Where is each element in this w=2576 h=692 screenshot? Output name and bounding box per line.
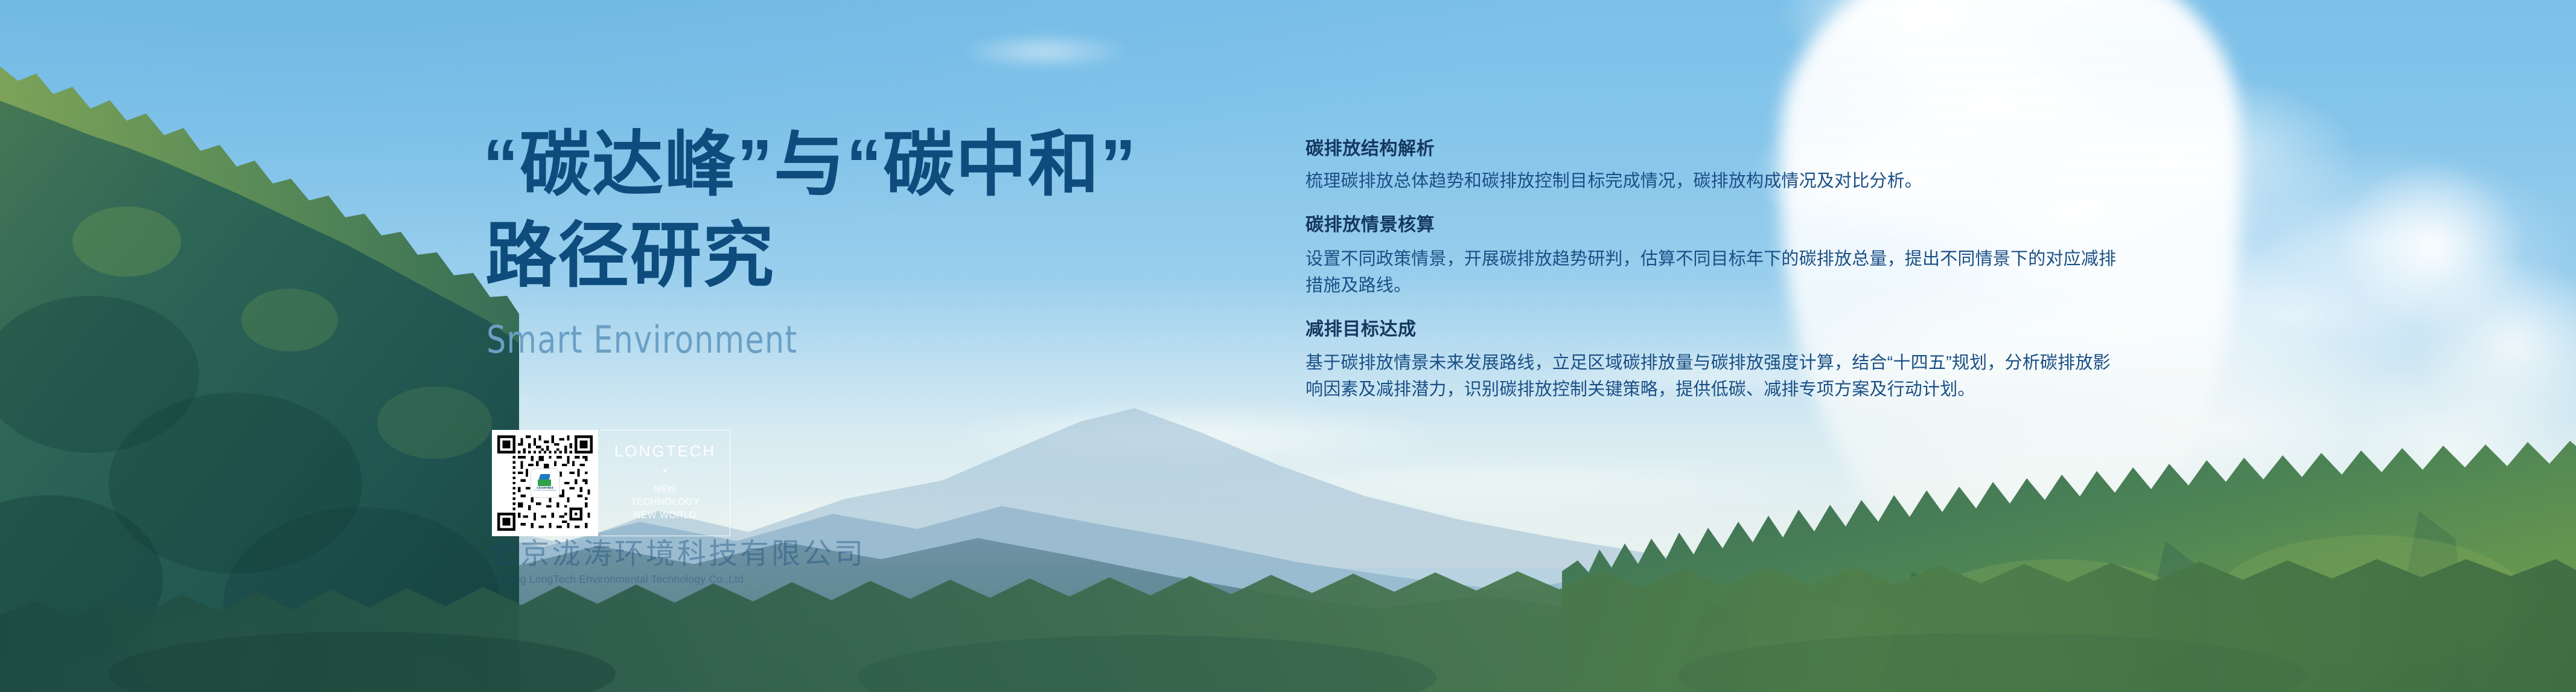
info-section-3-body: 基于碳排放情景未来发展路线，立足区域碳排放量与碳排放强度计算，结合“十四五”规划… — [1306, 350, 2117, 403]
longtech-tagline-line-1: NEW — [631, 483, 700, 496]
info-section-1-body: 梳理碳排放总体趋势和碳排放控制目标完成情况，碳排放构成情况及对比分析。 — [1306, 168, 2117, 194]
qr-center-logo: 北京泷涛环境科技 LONGTECH ENVIRONMENTAL — [531, 469, 559, 497]
hero-title-line-2: 路径研究 — [485, 211, 1237, 302]
info-section-2-body: 设置不同政策情景，开展碳排放趋势研判，估算不同目标年下的碳排放总量，提出不同情景… — [1306, 246, 2117, 299]
info-section-1: 碳排放结构解析 梳理碳排放总体趋势和碳排放控制目标完成情况，碳排放构成情况及对比… — [1306, 138, 2150, 194]
info-section-2: 碳排放情景核算 设置不同政策情景，开展碳排放趋势研判，估算不同目标年下的碳排放总… — [1306, 214, 2150, 299]
info-section-1-heading: 碳排放结构解析 — [1306, 138, 2150, 161]
promo-panel: 北京泷涛环境科技 LONGTECH ENVIRONMENTAL LONGTECH… — [492, 430, 730, 537]
longtech-brand: LONGTECH — [614, 443, 716, 459]
hero-banner: “碳达峰”与“碳中和” 路径研究 Smart Environment — [0, 0, 2576, 692]
hero-subtitle: Smart Environment — [486, 318, 1102, 362]
hero-title-line-1: “碳达峰”与“碳中和” — [483, 120, 1237, 211]
qr-code-card[interactable]: 北京泷涛环境科技 LONGTECH ENVIRONMENTAL — [492, 430, 598, 536]
hero-title-block: “碳达峰”与“碳中和” 路径研究 Smart Environment — [483, 120, 1237, 362]
qr-code-icon[interactable]: 北京泷涛环境科技 LONGTECH ENVIRONMENTAL — [497, 435, 593, 531]
logo-body-shape — [538, 479, 551, 486]
logo-text-en: LONGTECH ENVIRONMENTAL — [534, 490, 557, 492]
logo-cap-shape — [539, 474, 551, 479]
longtech-separator-icon: × — [662, 466, 668, 477]
company-logo-mark — [538, 474, 552, 486]
info-section-3-heading: 减排目标达成 — [1306, 318, 2150, 341]
longtech-panel: LONGTECH × NEW TECHNOLOGY NEW WORLD — [601, 430, 730, 536]
info-section-2-heading: 碳排放情景核算 — [1306, 214, 2150, 237]
longtech-tagline: NEW TECHNOLOGY NEW WORLD — [631, 483, 700, 522]
info-sections: 碳排放结构解析 梳理碳排放总体趋势和碳排放控制目标完成情况，碳排放构成情况及对比… — [1306, 138, 2150, 403]
info-section-3: 减排目标达成 基于碳排放情景未来发展路线，立足区域碳排放量与碳排放强度计算，结合… — [1306, 318, 2150, 403]
longtech-tagline-line-2: TECHNOLOGY — [631, 496, 700, 508]
longtech-tagline-line-3: NEW WORLD — [631, 509, 700, 522]
horizon-haze — [0, 277, 2576, 567]
